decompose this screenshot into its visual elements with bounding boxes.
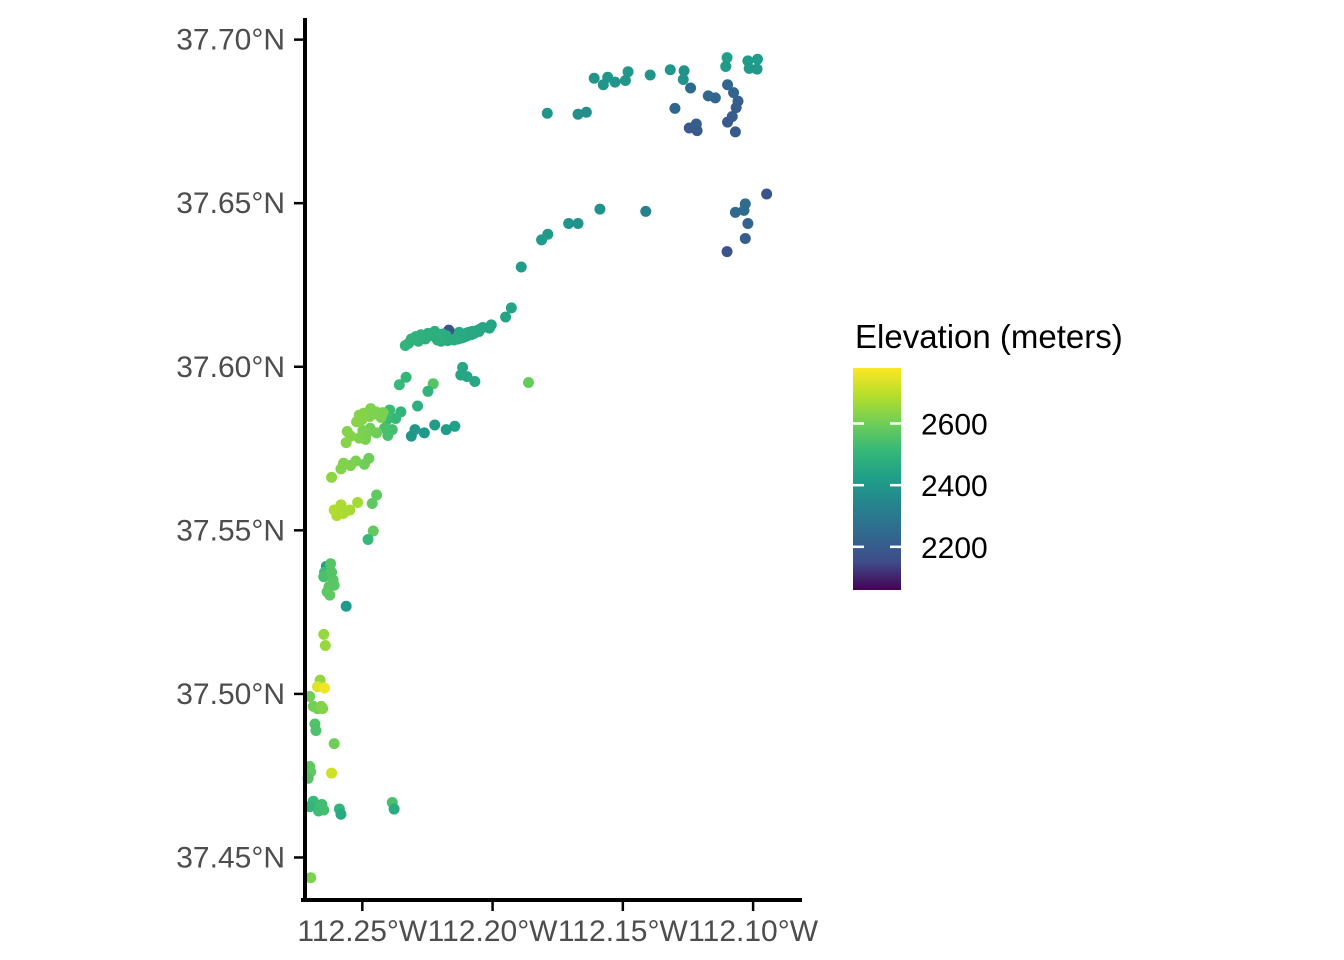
y-tick-label: 37.50°N xyxy=(176,678,285,711)
data-point xyxy=(645,69,656,80)
colorbar-gradient[interactable] xyxy=(853,368,901,590)
plot-svg: 37.70°N37.65°N37.60°N37.55°N37.50°N37.45… xyxy=(0,0,1344,960)
y-tick-label: 37.45°N xyxy=(176,841,285,874)
data-point xyxy=(326,768,337,779)
data-point xyxy=(363,534,374,545)
data-point xyxy=(589,73,600,84)
data-point xyxy=(317,703,328,714)
scatter-plot-figure: 37.70°N37.65°N37.60°N37.55°N37.50°N37.45… xyxy=(0,0,1344,960)
data-point xyxy=(573,109,584,120)
data-point xyxy=(500,312,511,323)
data-point xyxy=(620,75,631,86)
colorbar-tick-label: 2200 xyxy=(921,532,988,565)
data-point xyxy=(542,108,553,119)
data-point xyxy=(740,233,751,244)
data-point xyxy=(351,416,362,427)
data-point xyxy=(598,79,609,90)
data-point xyxy=(329,505,340,516)
data-point xyxy=(329,738,340,749)
x-tick-label: 112.20°W xyxy=(428,915,559,948)
data-point xyxy=(341,437,352,448)
data-point xyxy=(326,472,337,483)
data-point xyxy=(742,218,753,229)
y-tick-label: 37.55°N xyxy=(176,514,285,547)
x-tick-label: 112.15°W xyxy=(558,915,689,948)
data-point xyxy=(400,340,411,351)
data-point xyxy=(367,498,378,509)
data-point xyxy=(335,463,346,474)
data-point xyxy=(710,92,721,103)
data-point xyxy=(684,122,695,133)
data-point xyxy=(389,804,400,815)
x-tick-label: 112.25°W xyxy=(297,915,428,948)
data-point xyxy=(730,126,741,137)
data-point xyxy=(640,206,651,217)
data-point xyxy=(310,725,321,736)
data-point xyxy=(422,386,433,397)
data-point xyxy=(752,64,763,75)
x-tick-label: 112.10°W xyxy=(688,915,819,948)
data-point xyxy=(594,204,605,215)
data-point xyxy=(516,261,527,272)
data-point xyxy=(429,420,440,431)
data-point xyxy=(730,207,741,218)
y-tick-label: 37.70°N xyxy=(176,24,285,57)
data-point xyxy=(412,401,423,412)
data-point xyxy=(669,103,680,114)
data-point xyxy=(341,601,352,612)
y-tick-label: 37.60°N xyxy=(176,351,285,384)
data-point xyxy=(319,683,330,694)
data-point xyxy=(342,426,353,437)
data-point xyxy=(441,424,452,435)
data-point xyxy=(406,431,417,442)
data-point xyxy=(523,377,534,388)
data-point xyxy=(573,218,584,229)
data-point xyxy=(720,61,731,72)
figure-background xyxy=(0,0,1344,960)
data-point xyxy=(419,427,430,438)
data-point xyxy=(761,189,772,200)
data-point xyxy=(469,376,480,387)
colorbar-tick-label: 2400 xyxy=(921,470,988,503)
legend-title: Elevation (meters) xyxy=(855,318,1123,355)
data-point xyxy=(665,64,676,75)
data-point xyxy=(318,805,329,816)
data-point xyxy=(320,640,331,651)
data-point xyxy=(678,74,689,85)
data-point xyxy=(506,302,517,313)
data-point xyxy=(335,809,346,820)
data-point xyxy=(394,379,405,390)
data-point xyxy=(563,218,574,229)
data-point xyxy=(536,234,547,245)
data-point xyxy=(318,629,329,640)
colorbar-tick-label: 2600 xyxy=(921,409,988,442)
data-point xyxy=(685,83,696,94)
data-point xyxy=(324,590,335,601)
y-tick-label: 37.65°N xyxy=(176,187,285,220)
data-point xyxy=(752,54,763,65)
data-point xyxy=(722,117,733,128)
data-point xyxy=(722,246,733,257)
